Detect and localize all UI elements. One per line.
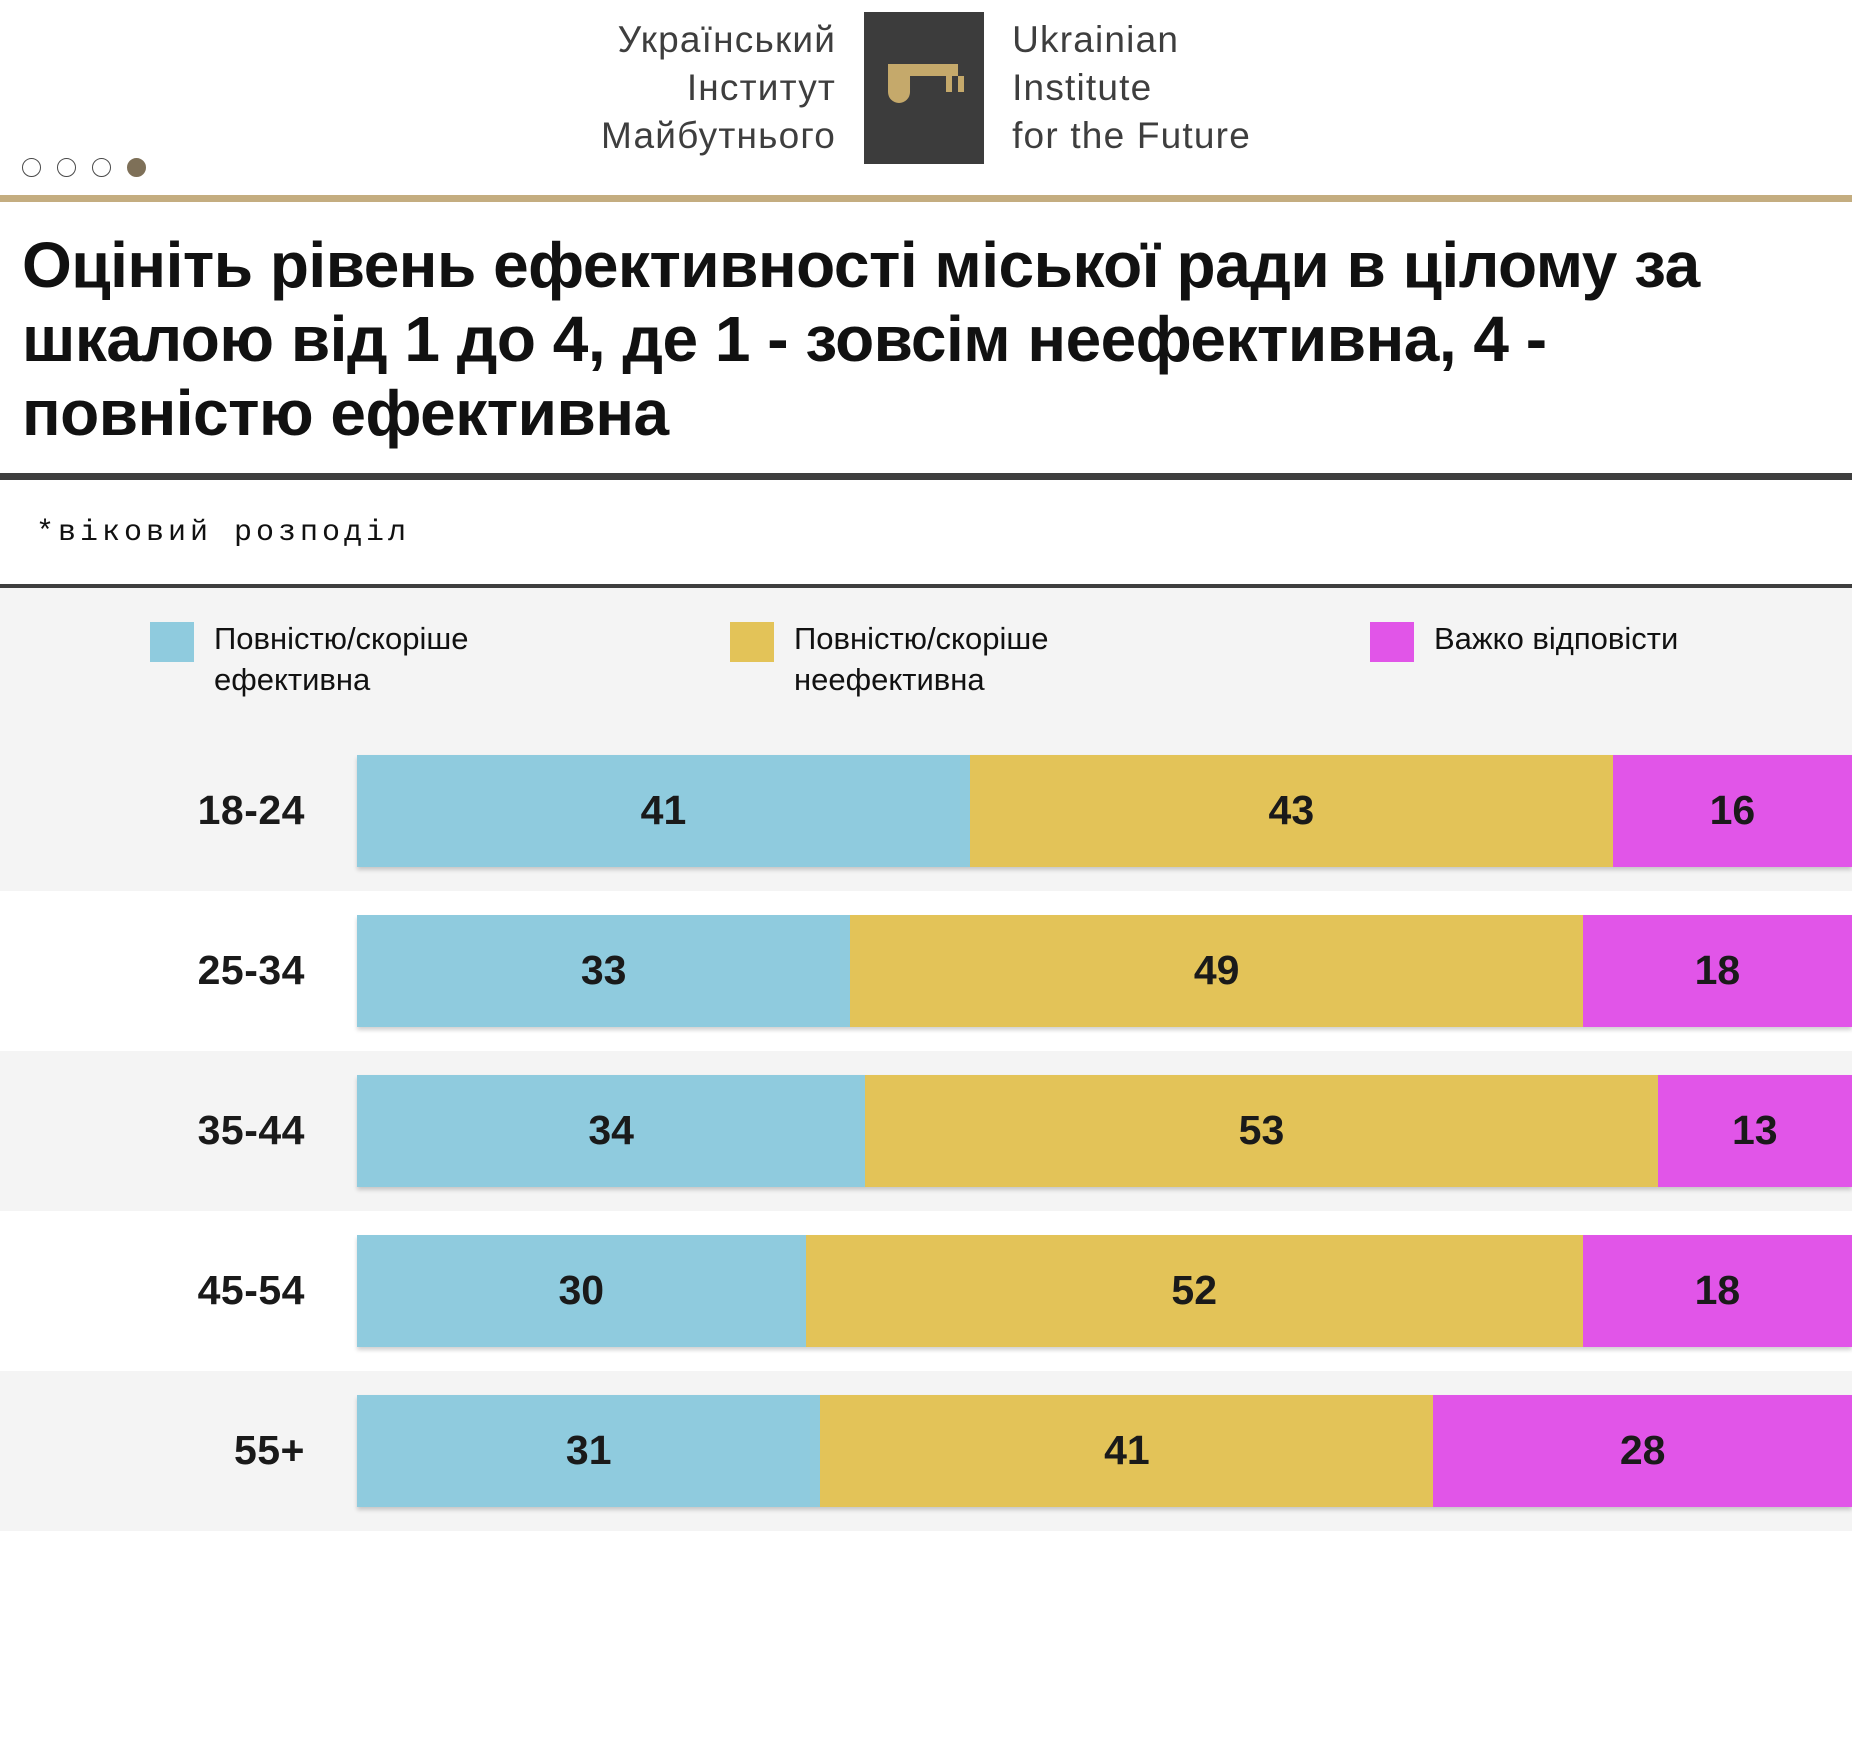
brand-ua-line-1: Український (601, 16, 836, 64)
row-category-label: 35-44 (0, 1107, 357, 1154)
pager-dot-2[interactable] (57, 158, 76, 177)
bar-segment-hard-to-answer[interactable]: 28 (1433, 1395, 1852, 1507)
row-bars: 41 43 16 (357, 755, 1852, 867)
brand-ua-line-3: Майбутнього (601, 112, 836, 160)
legend-swatch-icon (1370, 622, 1414, 662)
row-bars: 30 52 18 (357, 1235, 1852, 1347)
bar-segment-hard-to-answer[interactable]: 16 (1613, 755, 1852, 867)
row-category-label: 25-34 (0, 947, 357, 994)
legend-label-inefficient: Повністю/скоріше неефективна (794, 618, 1190, 701)
legend-item-efficient[interactable]: Повністю/скоріше ефективна (150, 618, 630, 701)
brand-name-en: Ukrainian Institute for the Future (984, 16, 1251, 160)
legend-item-hard-to-answer[interactable]: Важко відповісти (1370, 618, 1770, 662)
bar-segment-efficient[interactable]: 33 (357, 915, 850, 1027)
chart-legend: Повністю/скоріше ефективна Повністю/скор… (0, 588, 1852, 731)
row-bars: 34 53 13 (357, 1075, 1852, 1187)
pager-dot-4-active[interactable] (127, 158, 146, 177)
legend-swatch-icon (150, 622, 194, 662)
bar-segment-efficient[interactable]: 41 (357, 755, 970, 867)
brand-en-line-3: for the Future (1012, 112, 1251, 160)
key-icon (864, 12, 984, 164)
brand-logo: Український Інститут Майбутнього Ukraini… (601, 12, 1251, 164)
pager-dot-3[interactable] (92, 158, 111, 177)
bar-segment-hard-to-answer[interactable]: 18 (1583, 1235, 1852, 1347)
gold-divider (0, 195, 1852, 202)
bar-segment-inefficient[interactable]: 53 (865, 1075, 1657, 1187)
brand-ua-line-2: Інститут (601, 64, 836, 112)
stacked-bar-chart: 18-24 41 43 16 25-34 33 49 18 35-44 34 5… (0, 731, 1852, 1531)
page-header: Український Інститут Майбутнього Ukraini… (0, 0, 1852, 195)
chart-subtitle: *віковий розподіл (36, 516, 1830, 550)
bar-segment-efficient[interactable]: 31 (357, 1395, 820, 1507)
table-row: 25-34 33 49 18 (0, 891, 1852, 1051)
bar-segment-efficient[interactable]: 34 (357, 1075, 865, 1187)
brand-en-line-1: Ukrainian (1012, 16, 1251, 64)
title-section: Оцініть рівень ефективності міської ради… (0, 202, 1852, 473)
table-row: 45-54 30 52 18 (0, 1211, 1852, 1371)
brand-en-line-2: Institute (1012, 64, 1251, 112)
table-row: 55+ 31 41 28 (0, 1371, 1852, 1531)
brand-name-ua: Український Інститут Майбутнього (601, 16, 864, 160)
pager-dot-1[interactable] (22, 158, 41, 177)
bar-segment-inefficient[interactable]: 49 (850, 915, 1583, 1027)
bar-segment-efficient[interactable]: 30 (357, 1235, 806, 1347)
table-row: 18-24 41 43 16 (0, 731, 1852, 891)
row-category-label: 55+ (0, 1427, 357, 1474)
legend-label-efficient: Повністю/скоріше ефективна (214, 618, 630, 701)
subtitle-section: *віковий розподіл (0, 480, 1852, 584)
table-row: 35-44 34 53 13 (0, 1051, 1852, 1211)
bar-segment-inefficient[interactable]: 41 (820, 1395, 1433, 1507)
row-category-label: 18-24 (0, 787, 357, 834)
bar-segment-inefficient[interactable]: 52 (806, 1235, 1583, 1347)
bar-segment-inefficient[interactable]: 43 (970, 755, 1613, 867)
bar-segment-hard-to-answer[interactable]: 13 (1658, 1075, 1852, 1187)
bar-segment-hard-to-answer[interactable]: 18 (1583, 915, 1852, 1027)
title-bottom-divider (0, 473, 1852, 480)
legend-swatch-icon (730, 622, 774, 662)
row-bars: 33 49 18 (357, 915, 1852, 1027)
row-bars: 31 41 28 (357, 1395, 1852, 1507)
legend-item-inefficient[interactable]: Повністю/скоріше неефективна (730, 618, 1190, 701)
slide-pager[interactable] (22, 158, 146, 177)
legend-label-hard-to-answer: Важко відповісти (1434, 618, 1678, 660)
page-title: Оцініть рівень ефективності міської ради… (22, 228, 1782, 451)
row-category-label: 45-54 (0, 1267, 357, 1314)
